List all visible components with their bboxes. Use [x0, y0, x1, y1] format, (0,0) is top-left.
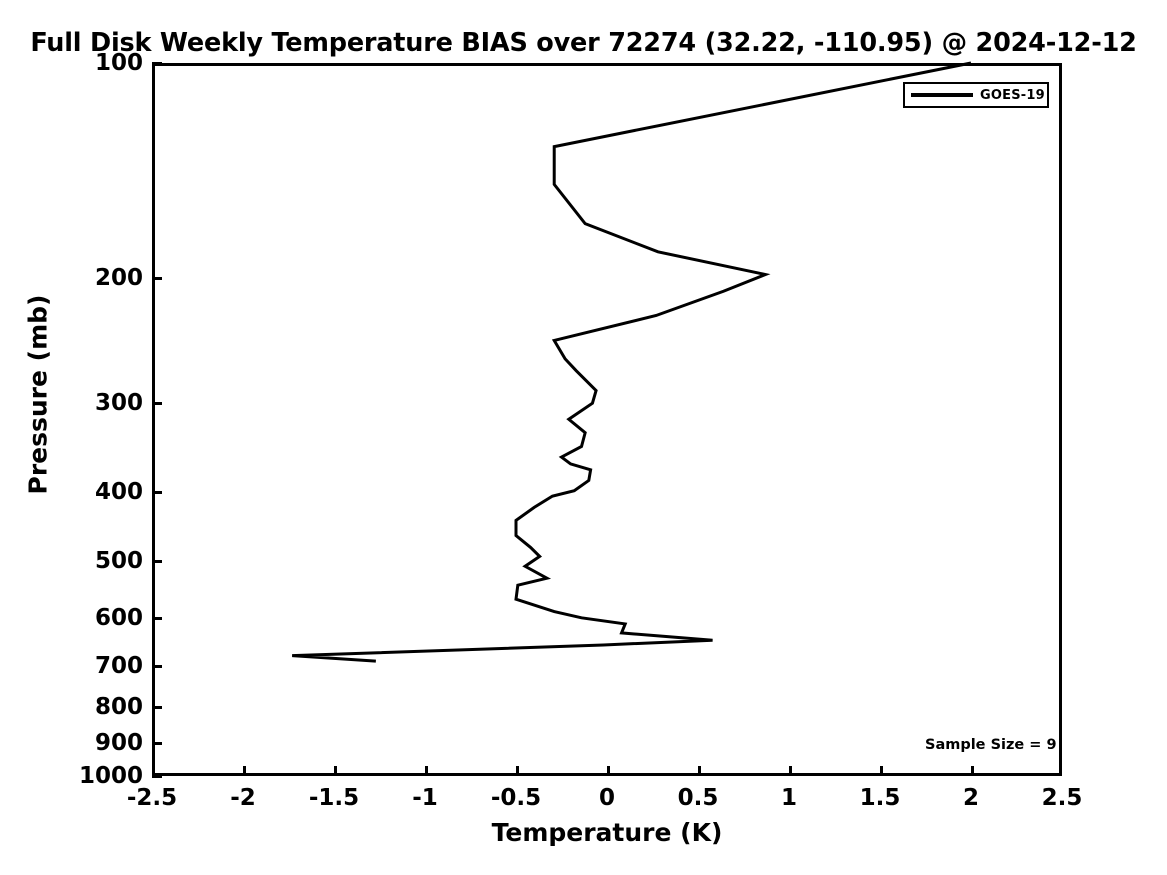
legend-label-goes-19: GOES-19	[980, 88, 1045, 103]
y-tick-label: 600	[95, 605, 143, 631]
y-tick-label: 800	[95, 694, 143, 720]
x-tick-label: 1	[781, 785, 797, 811]
x-tick-mark	[243, 766, 246, 776]
y-tick-mark	[152, 402, 162, 405]
y-tick-label: 300	[95, 390, 143, 416]
x-axis-tick-labels: -2.5-2-1.5-1-0.500.511.522.5	[152, 785, 1062, 815]
y-tick-mark	[152, 560, 162, 563]
y-tick-mark	[152, 62, 162, 65]
x-tick-label: -2	[230, 785, 256, 811]
x-tick-mark	[971, 766, 974, 776]
y-tick-mark	[152, 491, 162, 494]
x-tick-label: 0	[599, 785, 615, 811]
x-tick-label: -2.5	[127, 785, 177, 811]
x-tick-mark	[607, 766, 610, 776]
series-line-goes-19	[292, 63, 971, 661]
x-tick-label: 0.5	[678, 785, 719, 811]
legend-line-swatch	[911, 93, 973, 97]
legend: GOES-19	[903, 82, 1049, 108]
x-tick-label: -0.5	[491, 785, 541, 811]
x-tick-mark	[425, 766, 428, 776]
x-tick-label: -1.5	[309, 785, 359, 811]
y-tick-label: 900	[95, 730, 143, 756]
y-tick-label: 700	[95, 653, 143, 679]
chart-title: Full Disk Weekly Temperature BIAS over 7…	[0, 28, 1167, 58]
x-tick-label: 2	[963, 785, 979, 811]
y-tick-mark	[152, 277, 162, 280]
y-tick-mark	[152, 706, 162, 709]
y-tick-mark	[152, 617, 162, 620]
x-tick-label: -1	[412, 785, 438, 811]
x-tick-label: 1.5	[860, 785, 901, 811]
x-tick-mark	[334, 766, 337, 776]
y-axis-tick-labels: 1002003004005006007008009001000	[0, 63, 143, 776]
sample-size-annotation: Sample Size = 9	[925, 737, 1057, 753]
x-axis-label: Temperature (K)	[152, 818, 1062, 847]
y-tick-label: 200	[95, 265, 143, 291]
x-tick-mark	[152, 766, 155, 776]
y-tick-label: 100	[95, 50, 143, 76]
y-tick-mark	[152, 665, 162, 668]
x-tick-mark	[698, 766, 701, 776]
x-tick-mark	[789, 766, 792, 776]
x-tick-label: 2.5	[1042, 785, 1083, 811]
x-tick-mark	[880, 766, 883, 776]
x-tick-mark	[1059, 766, 1062, 776]
x-tick-mark	[516, 766, 519, 776]
chart-figure: Full Disk Weekly Temperature BIAS over 7…	[0, 0, 1167, 875]
plot-area	[152, 63, 1062, 776]
y-tick-label: 400	[95, 479, 143, 505]
y-tick-mark	[152, 742, 162, 745]
y-tick-label: 500	[95, 548, 143, 574]
series-plot	[152, 63, 1062, 776]
